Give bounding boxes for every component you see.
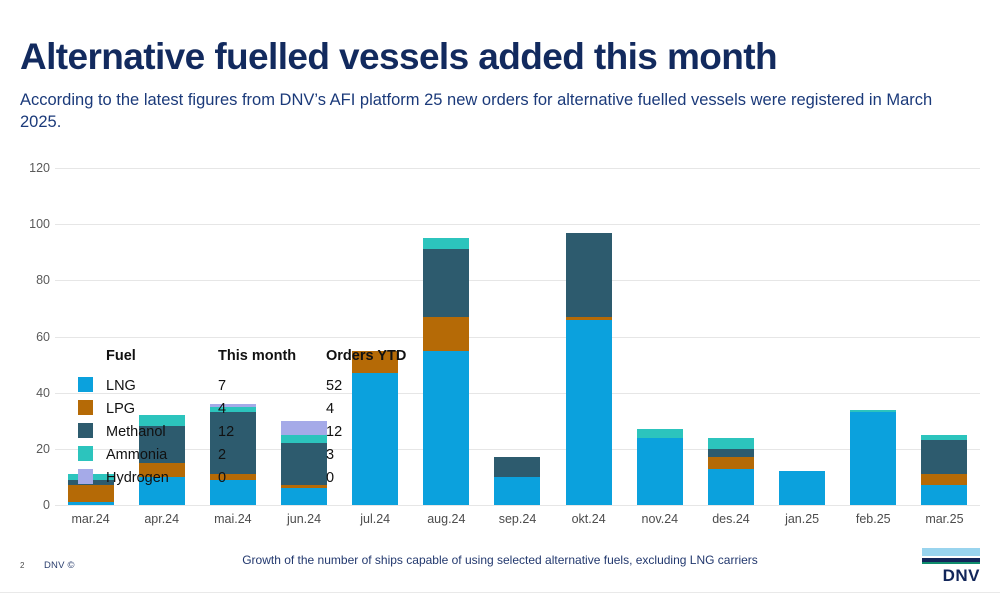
legend-color-swatch <box>78 446 93 461</box>
bar-segment-lpg[interactable] <box>423 317 469 351</box>
x-axis-tick-label: mar.24 <box>71 512 109 526</box>
y-axis-tick-label: 80 <box>4 273 50 287</box>
y-axis-tick-label: 120 <box>4 161 50 175</box>
bar-group[interactable] <box>838 168 909 505</box>
bar-group[interactable] <box>411 168 482 505</box>
bar-segment-lng[interactable] <box>494 477 540 505</box>
x-axis-tick-label: jun.24 <box>287 512 321 526</box>
legend-color-swatch <box>78 377 93 392</box>
legend-swatch-cell <box>78 397 106 420</box>
bar-segment-methanol[interactable] <box>708 449 754 457</box>
bar-segment-lng[interactable] <box>708 469 754 506</box>
stacked-bar[interactable] <box>708 438 754 505</box>
legend-row: Ammonia23 <box>78 443 416 466</box>
y-axis-tick-label: 100 <box>4 217 50 231</box>
x-axis-tick-label: jul.24 <box>360 512 390 526</box>
bar-group[interactable] <box>909 168 980 505</box>
dnv-logo: DNV <box>922 548 980 588</box>
legend-header-row: Fuel This month Orders YTD <box>78 348 416 374</box>
y-axis: 020406080100120 <box>0 168 50 505</box>
y-axis-tick-label: 40 <box>4 386 50 400</box>
logo-stripe-light <box>922 548 980 556</box>
bar-segment-lng[interactable] <box>423 351 469 505</box>
bar-group[interactable] <box>767 168 838 505</box>
legend-orders-ytd-value: 12 <box>326 420 416 443</box>
footer-divider <box>0 592 1000 593</box>
legend-row: LNG752 <box>78 374 416 397</box>
legend-swatch-cell <box>78 374 106 397</box>
legend-header-fuel: Fuel <box>106 348 218 374</box>
bar-segment-methanol[interactable] <box>921 440 967 474</box>
y-axis-tick-label: 20 <box>4 442 50 456</box>
legend-row: LPG44 <box>78 397 416 420</box>
legend-header-this-month: This month <box>218 348 326 374</box>
stacked-bar[interactable] <box>921 435 967 505</box>
bar-segment-lng[interactable] <box>779 471 825 505</box>
legend-this-month-value: 12 <box>218 420 326 443</box>
bar-segment-lng[interactable] <box>921 485 967 505</box>
x-axis-tick-label: okt.24 <box>572 512 606 526</box>
bar-segment-ammonia[interactable] <box>423 238 469 249</box>
legend-fuel-label: LNG <box>106 374 218 397</box>
stacked-bar[interactable] <box>779 471 825 505</box>
bar-segment-lng[interactable] <box>281 488 327 505</box>
legend-fuel-label: Methanol <box>106 420 218 443</box>
bar-segment-methanol[interactable] <box>423 249 469 316</box>
legend-body: LNG752LPG44Methanol1212Ammonia23Hydrogen… <box>78 374 416 489</box>
x-axis-tick-label: mar.25 <box>925 512 963 526</box>
header: Alternative fuelled vessels added this m… <box>20 38 970 133</box>
logo-stripe-green <box>922 562 980 564</box>
legend-this-month-value: 2 <box>218 443 326 466</box>
bar-segment-methanol[interactable] <box>566 233 612 317</box>
bar-group[interactable] <box>695 168 766 505</box>
page-title: Alternative fuelled vessels added this m… <box>20 38 970 77</box>
stacked-bar[interactable] <box>494 457 540 505</box>
y-axis-tick-label: 60 <box>4 330 50 344</box>
bar-group[interactable] <box>624 168 695 505</box>
legend-orders-ytd-value: 4 <box>326 397 416 420</box>
bar-segment-lng[interactable] <box>850 412 896 505</box>
x-axis-tick-label: jan.25 <box>785 512 819 526</box>
x-axis-tick-label: mai.24 <box>214 512 252 526</box>
stacked-bar[interactable] <box>637 429 683 505</box>
legend-swatch-cell <box>78 420 106 443</box>
x-axis-tick-label: sep.24 <box>499 512 537 526</box>
legend-this-month-value: 0 <box>218 466 326 489</box>
bar-segment-lng[interactable] <box>566 320 612 505</box>
x-axis-tick-label: nov.24 <box>641 512 678 526</box>
slide-root: Alternative fuelled vessels added this m… <box>0 0 1000 600</box>
bar-group[interactable] <box>553 168 624 505</box>
chart-caption: Growth of the number of ships capable of… <box>0 553 1000 567</box>
bar-segment-lpg[interactable] <box>921 474 967 485</box>
legend-swatch-cell <box>78 466 106 489</box>
chart: 020406080100120 mar.24apr.24mai.24jun.24… <box>0 155 1000 515</box>
stacked-bar[interactable] <box>566 233 612 505</box>
legend-this-month-value: 7 <box>218 374 326 397</box>
bar-segment-ammonia[interactable] <box>637 429 683 437</box>
logo-wordmark: DNV <box>922 566 980 586</box>
legend-color-swatch <box>78 400 93 415</box>
legend-color-swatch <box>78 469 93 484</box>
legend-orders-ytd-value: 0 <box>326 466 416 489</box>
bar-segment-lng[interactable] <box>637 438 683 505</box>
x-axis-tick-label: des.24 <box>712 512 750 526</box>
legend-orders-ytd-value: 52 <box>326 374 416 397</box>
x-axis-tick-label: feb.25 <box>856 512 891 526</box>
legend-row: Hydrogen00 <box>78 466 416 489</box>
x-axis: mar.24apr.24mai.24jun.24jul.24aug.24sep.… <box>55 505 980 533</box>
legend-fuel-label: Ammonia <box>106 443 218 466</box>
stacked-bar[interactable] <box>850 410 896 505</box>
legend-orders-ytd-value: 3 <box>326 443 416 466</box>
legend-swatch-cell <box>78 443 106 466</box>
bar-group[interactable] <box>482 168 553 505</box>
legend-fuel-label: LPG <box>106 397 218 420</box>
x-axis-tick-label: aug.24 <box>427 512 465 526</box>
bar-segment-lpg[interactable] <box>708 457 754 468</box>
page-subtitle: According to the latest figures from DNV… <box>20 89 965 134</box>
legend-this-month-value: 4 <box>218 397 326 420</box>
legend-table: Fuel This month Orders YTD LNG752LPG44Me… <box>78 348 416 489</box>
legend-header-orders-ytd: Orders YTD <box>326 348 416 374</box>
bar-segment-ammonia[interactable] <box>708 438 754 449</box>
legend-color-swatch <box>78 423 93 438</box>
stacked-bar[interactable] <box>423 238 469 505</box>
y-axis-tick-label: 0 <box>4 498 50 512</box>
bar-segment-methanol[interactable] <box>494 457 540 477</box>
chart-legend-table: Fuel This month Orders YTD LNG752LPG44Me… <box>78 348 416 489</box>
x-axis-tick-label: apr.24 <box>144 512 179 526</box>
legend-header-swatch <box>78 348 106 374</box>
legend-fuel-label: Hydrogen <box>106 466 218 489</box>
legend-row: Methanol1212 <box>78 420 416 443</box>
